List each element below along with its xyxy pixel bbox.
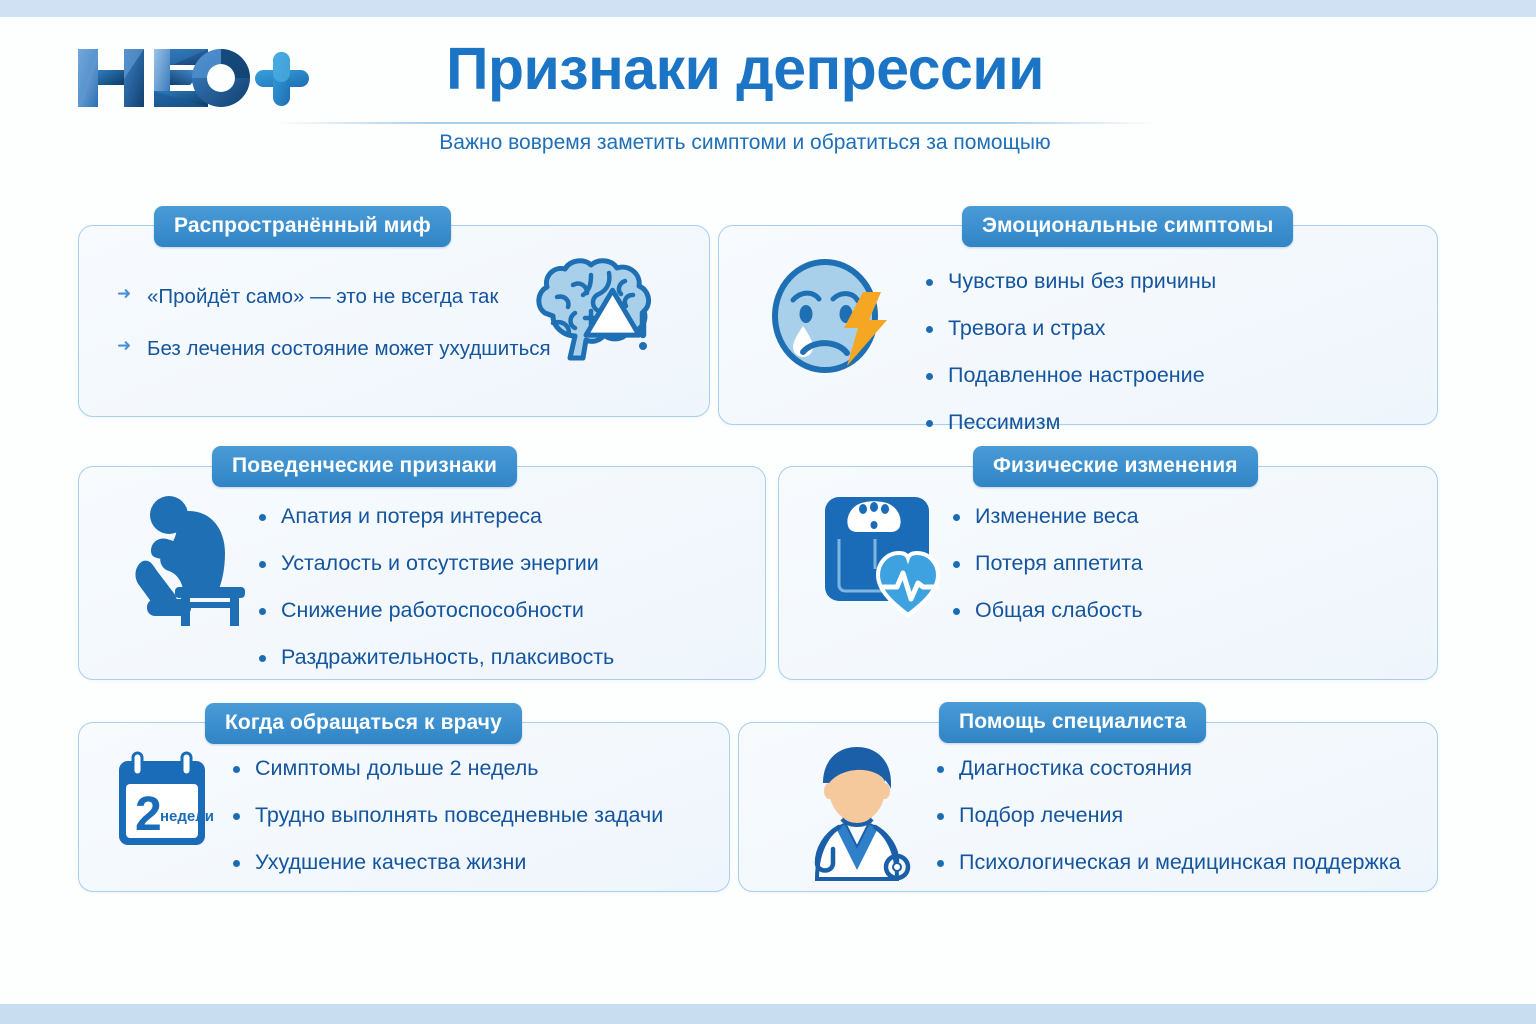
page-subtitle: Важно вовремя заметить симптоми и обрати…: [330, 131, 1160, 155]
card-myth: Распространённый миф «Пройдёт само» — эт…: [78, 225, 710, 417]
card-specialist-help-list: Диагностика состояния Подбор лечения Пси…: [935, 755, 1401, 876]
card-physical-list: Изменение веса Потеря аппетита Общая сла…: [951, 503, 1143, 624]
list-item: Тревога и страх: [924, 315, 1216, 342]
infographic-page: Признаки депрессии Важно вовремя заметит…: [0, 0, 1536, 1024]
card-when-to-see-doctor: 2 недели Когда обращаться к врачу Симпто…: [78, 722, 730, 892]
list-item: Чувство вины без причины: [924, 268, 1216, 295]
card-myth-title: Распространённый миф: [154, 206, 451, 247]
list-item: Подбор лечения: [935, 802, 1401, 829]
doctor-icon: [787, 741, 927, 881]
calendar-number: 2: [135, 788, 162, 841]
list-item: Изменение веса: [951, 503, 1143, 530]
card-behavioral-list: Апатия и потеря интереса Усталость и отс…: [257, 503, 614, 671]
list-item: Раздражительность, плаксивость: [257, 644, 614, 671]
card-physical-title: Физические изменения: [973, 446, 1258, 487]
brain-warning-icon: [529, 251, 689, 386]
list-item: Пессимизм: [924, 409, 1216, 436]
page-header: Признаки депрессии Важно вовремя заметит…: [0, 17, 1536, 177]
neo-plus-logo: [72, 39, 312, 117]
card-emotional: Эмоциональные симптомы Чувство вины без …: [718, 225, 1438, 425]
card-when-to-see-doctor-list: Симптомы дольше 2 недель Трудно выполнят…: [231, 755, 663, 876]
list-item: Общая слабость: [951, 597, 1143, 624]
list-item: Симптомы дольше 2 недель: [231, 755, 663, 782]
card-behavioral-title: Поведенческие признаки: [212, 446, 517, 487]
title-divider: [275, 122, 1155, 124]
weight-scale-heart-icon: [819, 491, 959, 626]
list-item: Усталость и отсутствие энергии: [257, 550, 614, 577]
card-when-to-see-doctor-title: Когда обращаться к врачу: [205, 703, 522, 744]
card-behavioral: Поведенческие признаки Апатия и потеря и…: [78, 466, 766, 680]
calendar-two-weeks-icon: 2 недели: [107, 751, 222, 856]
list-item: Без лечения состояние может ухудшиться: [117, 336, 551, 362]
list-item: Ухудшение качества жизни: [231, 849, 663, 876]
card-specialist-help-title: Помощь специалиста: [939, 702, 1206, 743]
card-physical: Физические изменения Изменение веса Поте…: [778, 466, 1438, 680]
page-title: Признаки депрессии: [330, 39, 1160, 101]
sitting-person-icon: [127, 489, 267, 629]
list-item: Снижение работоспособности: [257, 597, 614, 624]
sad-face-lightning-icon: [767, 254, 897, 389]
list-item: Потеря аппетита: [951, 550, 1143, 577]
calendar-caption: недели: [160, 808, 214, 825]
card-specialist-help: Помощь специалиста Диагностика состояния…: [738, 722, 1438, 892]
list-item: Апатия и потеря интереса: [257, 503, 614, 530]
card-emotional-title: Эмоциональные симптомы: [962, 206, 1293, 247]
list-item: Трудно выполнять повседневные задачи: [231, 802, 663, 829]
list-item: Подавленное настроение: [924, 362, 1216, 389]
card-emotional-list: Чувство вины без причины Тревога и страх…: [924, 268, 1216, 436]
list-item: Психологическая и медицинская поддержка: [935, 849, 1401, 876]
list-item: «Пройдёт само» — это не всегда так: [117, 284, 551, 310]
card-myth-list: «Пройдёт само» — это не всегда так Без л…: [117, 284, 551, 361]
list-item: Диагностика состояния: [935, 755, 1401, 782]
